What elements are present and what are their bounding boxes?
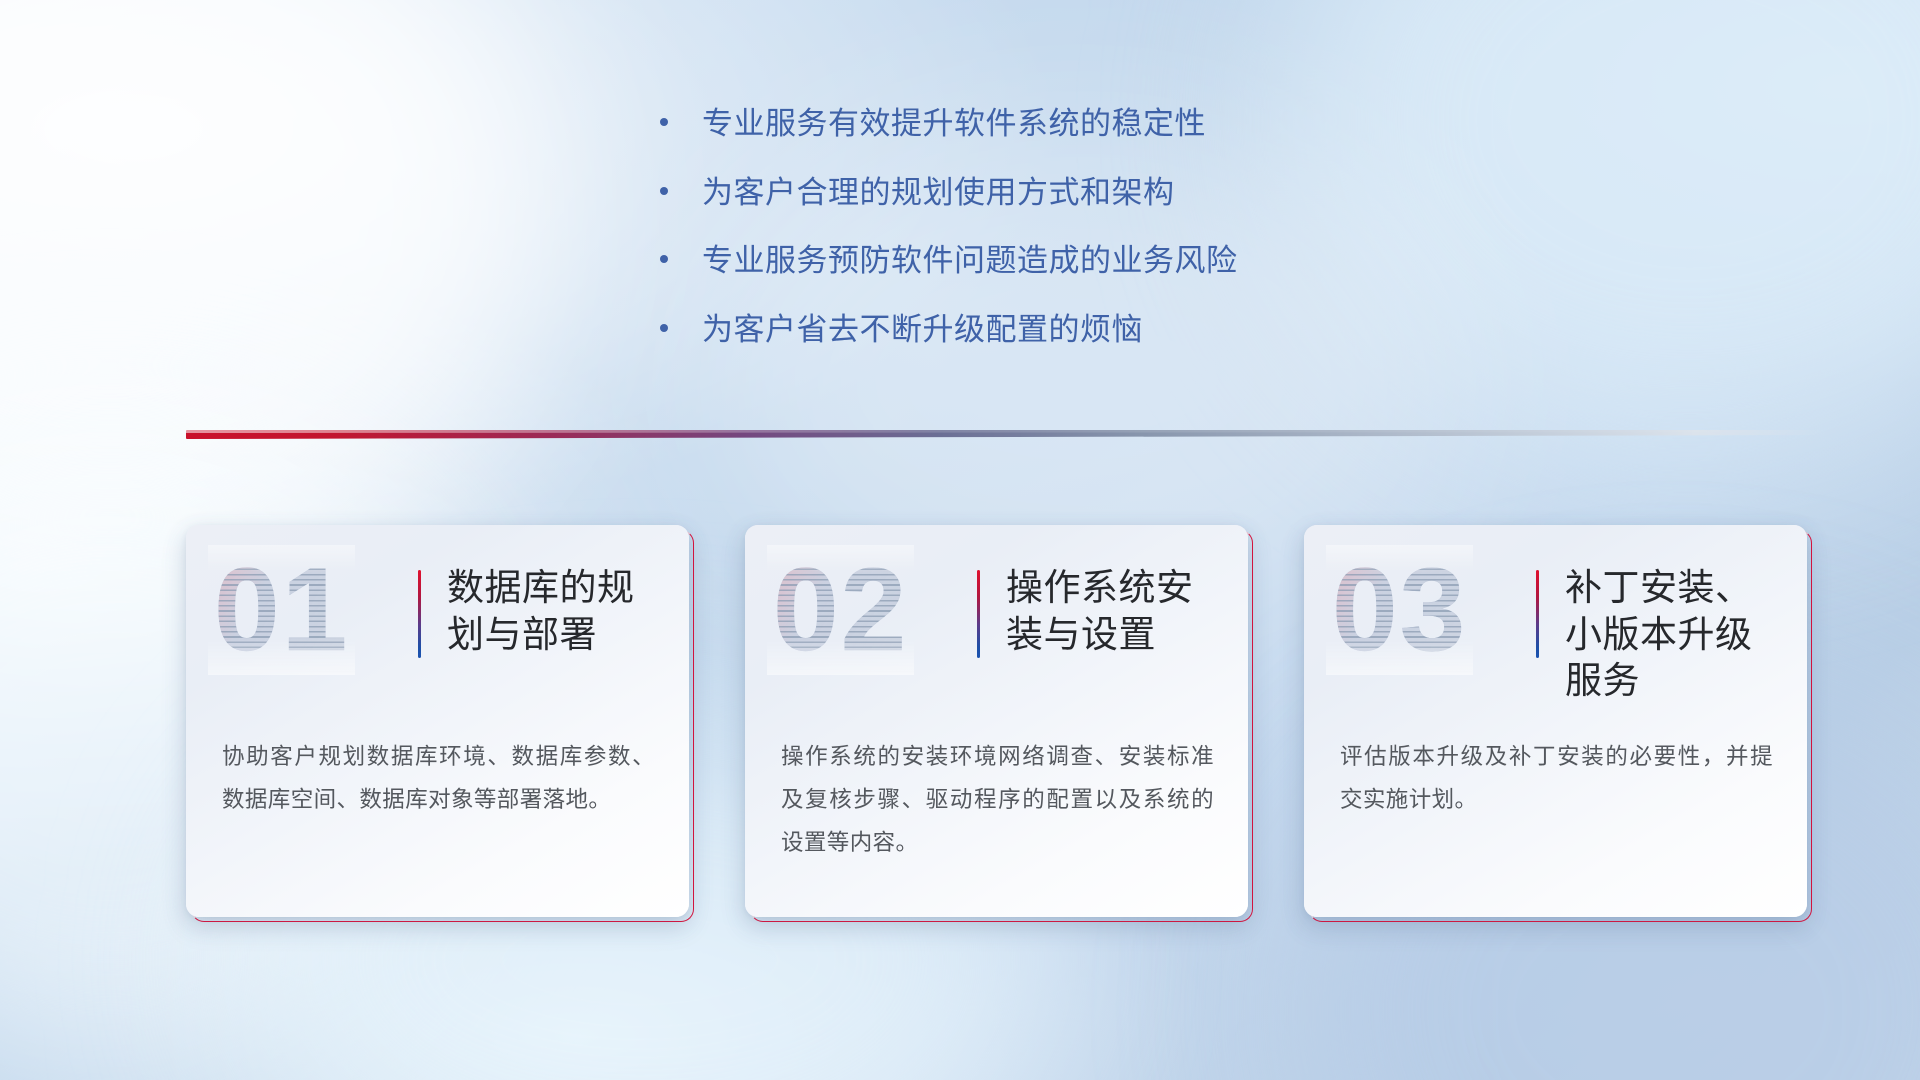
card-title: 补丁安装、小版本升级服务	[1565, 565, 1783, 705]
background-glow-top-left	[0, 0, 560, 590]
card-number-watermark: 03	[1332, 551, 1467, 669]
list-item: 为客户合理的规划使用方式和架构	[660, 177, 1460, 209]
card-title: 操作系统安装与设置	[1006, 565, 1224, 658]
card-header: 补丁安装、小版本升级服务	[1536, 565, 1783, 705]
bullet-text: 专业服务有效提升软件系统的稳定性	[702, 108, 1206, 140]
service-card-03[interactable]: 03 补丁安装、小版本升级服务 评估版本升级及补丁安装的必要性，并提交实施计划。	[1304, 525, 1807, 917]
card-number-watermark: 01	[214, 551, 349, 669]
card-title: 数据库的规划与部署	[447, 565, 665, 658]
card-row: 01 数据库的规划与部署 协助客户规划数据库环境、数据库参数、数据库空间、数据库…	[186, 525, 1807, 917]
card-surface: 03 补丁安装、小版本升级服务 评估版本升级及补丁安装的必要性，并提交实施计划。	[1304, 525, 1807, 917]
accent-bar-icon	[1536, 570, 1539, 658]
card-description: 协助客户规划数据库环境、数据库参数、数据库空间、数据库对象等部署落地。	[222, 735, 655, 821]
card-description: 操作系统的安装环境网络调查、安装标准及复核步骤、驱动程序的配置以及系统的设置等内…	[781, 735, 1214, 865]
bullet-dot-icon	[660, 255, 668, 263]
card-description: 评估版本升级及补丁安装的必要性，并提交实施计划。	[1340, 735, 1773, 821]
bullet-text: 为客户合理的规划使用方式和架构	[702, 177, 1175, 209]
service-card-01[interactable]: 01 数据库的规划与部署 协助客户规划数据库环境、数据库参数、数据库空间、数据库…	[186, 525, 689, 917]
card-header: 操作系统安装与设置	[977, 565, 1224, 658]
bullet-dot-icon	[660, 324, 668, 332]
accent-bar-icon	[418, 570, 421, 658]
bullet-text: 专业服务预防软件问题造成的业务风险	[702, 245, 1238, 277]
service-card-02[interactable]: 02 操作系统安装与设置 操作系统的安装环境网络调查、安装标准及复核步骤、驱动程…	[745, 525, 1248, 917]
list-item: 为客户省去不断升级配置的烦恼	[660, 314, 1460, 346]
bullet-dot-icon	[660, 187, 668, 195]
bullet-list: 专业服务有效提升软件系统的稳定性 为客户合理的规划使用方式和架构 专业服务预防软…	[660, 108, 1460, 382]
bullet-dot-icon	[660, 118, 668, 126]
card-surface: 01 数据库的规划与部署 协助客户规划数据库环境、数据库参数、数据库空间、数据库…	[186, 525, 689, 917]
accent-bar-icon	[977, 570, 980, 658]
list-item: 专业服务预防软件问题造成的业务风险	[660, 245, 1460, 277]
list-item: 专业服务有效提升软件系统的稳定性	[660, 108, 1460, 140]
card-number-watermark: 02	[773, 551, 908, 669]
bullet-text: 为客户省去不断升级配置的烦恼	[702, 314, 1143, 346]
card-surface: 02 操作系统安装与设置 操作系统的安装环境网络调查、安装标准及复核步骤、驱动程…	[745, 525, 1248, 917]
slide-canvas: 专业服务有效提升软件系统的稳定性 为客户合理的规划使用方式和架构 专业服务预防软…	[0, 0, 1920, 1080]
section-divider	[186, 430, 1826, 439]
card-header: 数据库的规划与部署	[418, 565, 665, 658]
